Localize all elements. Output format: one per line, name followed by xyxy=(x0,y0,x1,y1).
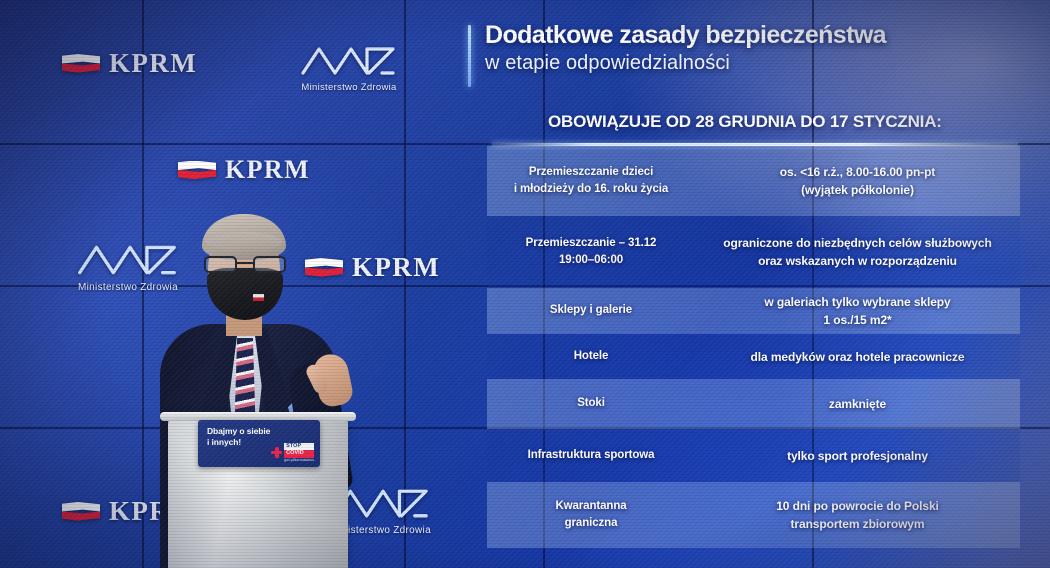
rule-value: 10 dni po powrocie do Polskitransportem … xyxy=(695,497,1020,533)
polish-flag-icon xyxy=(178,161,216,180)
table-row: Kwarantannagraniczna 10 dni po powrocie … xyxy=(487,482,1020,548)
page-subtitle: w etapie odpowiedzialności xyxy=(485,52,886,75)
kprm-logo-label: KPRM xyxy=(225,155,310,185)
polish-flag-icon xyxy=(62,502,100,521)
kprm-logo-label: KPRM xyxy=(109,48,197,79)
table-row: Przemieszczanie dziecii młodzieży do 16.… xyxy=(487,146,1020,216)
rule-category: Przemieszczanie – 31.1219:00–06:00 xyxy=(487,235,695,270)
rule-value: ograniczone do niezbędnych celów służbow… xyxy=(695,234,1020,270)
podium-sign: Dbajmy o siebiei innych! STOP COVID gov.… xyxy=(198,420,320,467)
medical-cross-icon xyxy=(271,447,282,458)
rule-value: dla medyków oraz hotele pracownicze xyxy=(695,348,1020,366)
table-row: Hotele dla medyków oraz hotele pracownic… xyxy=(487,334,1020,379)
badge-line-covid: COVID xyxy=(284,450,314,457)
rule-category: Hotele xyxy=(487,348,695,365)
accent-bar xyxy=(468,25,471,87)
ministry-of-health-label: Ministerstwo Zdrowia xyxy=(301,82,396,93)
rule-category: Przemieszczanie dziecii młodzieży do 16.… xyxy=(487,164,695,199)
headline-block: Dodatkowe zasady bezpieczeństwa w etapie… xyxy=(468,22,886,87)
rule-category: Kwarantannagraniczna xyxy=(487,498,695,533)
validity-period: OBOWIĄZUJE OD 28 GRUDNIA DO 17 STYCZNIA: xyxy=(548,112,942,132)
polish-flag-icon xyxy=(62,54,100,73)
speaker-hair xyxy=(202,214,286,260)
badge-line-stop: STOP xyxy=(284,443,314,450)
rules-table: Przemieszczanie dziecii młodzieży do 16.… xyxy=(487,143,1020,548)
table-row: Przemieszczanie – 31.1219:00–06:00 ogran… xyxy=(487,216,1020,288)
rule-value: zamknięte xyxy=(695,395,1020,413)
page-title: Dodatkowe zasady bezpieczeństwa xyxy=(485,22,886,48)
face-mask xyxy=(207,268,283,320)
mask-flag-icon xyxy=(253,294,264,301)
table-row: Infrastruktura sportowa tylko sport prof… xyxy=(487,429,1020,482)
ministry-of-health-logo: Ministerstwo Zdrowia xyxy=(300,40,398,93)
rule-value: os. <16 r.ż., 8.00-16.00 pn-pt(wyjątek p… xyxy=(695,163,1020,199)
rule-category: Sklepy i galerie xyxy=(487,302,695,319)
mz-zigzag-icon xyxy=(300,40,398,80)
badge-line-url: gov.pl/koronawirus xyxy=(284,459,314,462)
rule-value: w galeriach tylko wybrane sklepy1 os./15… xyxy=(695,293,1020,329)
stop-covid-badge: STOP COVID gov.pl/koronawirus xyxy=(271,443,314,462)
kprm-logo: KPRM xyxy=(62,48,197,79)
rule-category: Infrastruktura sportowa xyxy=(487,447,695,464)
rule-value: tylko sport profesjonalny xyxy=(695,447,1020,465)
stop-covid-wordmark: STOP COVID gov.pl/koronawirus xyxy=(284,443,314,462)
kprm-logo: KPRM xyxy=(178,155,310,185)
glasses-icon xyxy=(202,256,288,273)
press-conference-photo: KPRM Ministerstwo Zdrowia KPRM Ministers… xyxy=(0,0,1050,568)
kprm-logo-label: KPRM xyxy=(352,252,440,283)
rule-category: Stoki xyxy=(487,395,695,412)
table-row: Stoki zamknięte xyxy=(487,379,1020,429)
table-row: Sklepy i galerie w galeriach tylko wybra… xyxy=(487,288,1020,334)
